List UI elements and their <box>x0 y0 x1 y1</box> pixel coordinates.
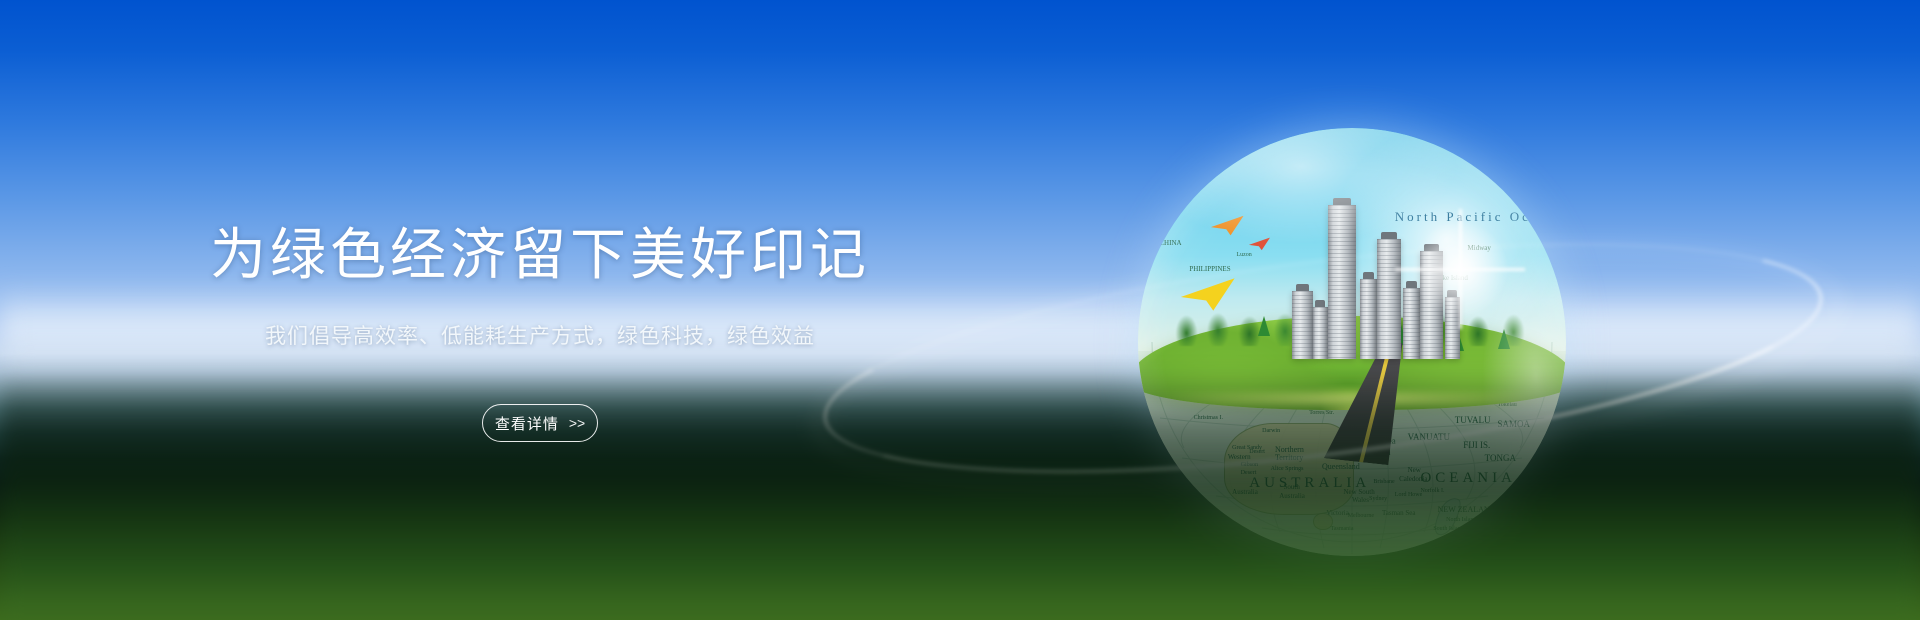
globe-illustration: North Pacific OceanMidwayWake IslandPHIL… <box>1120 110 1640 580</box>
page-title: 为绿色经济留下美好印记 <box>0 222 1080 288</box>
red-paper-plane-icon <box>1249 238 1272 252</box>
cta-container: 查看详情 >> <box>0 404 1080 442</box>
hero-banner: North Pacific OceanMidwayWake IslandPHIL… <box>0 0 1920 620</box>
paper-planes <box>1138 128 1566 556</box>
globe-sphere: North Pacific OceanMidwayWake IslandPHIL… <box>1138 128 1566 556</box>
hero-copy: 为绿色经济留下美好印记 我们倡导高效率、低能耗生产方式，绿色科技，绿色效益 查看… <box>0 0 1080 620</box>
view-details-label: 查看详情 <box>495 413 559 434</box>
yellow-paper-plane-icon <box>1179 278 1239 315</box>
view-details-button[interactable]: 查看详情 >> <box>482 404 598 442</box>
page-subtitle: 我们倡导高效率、低能耗生产方式，绿色科技，绿色效益 <box>0 322 1080 352</box>
orange-paper-plane-icon <box>1210 216 1246 238</box>
chevron-right-icon: >> <box>569 415 585 431</box>
